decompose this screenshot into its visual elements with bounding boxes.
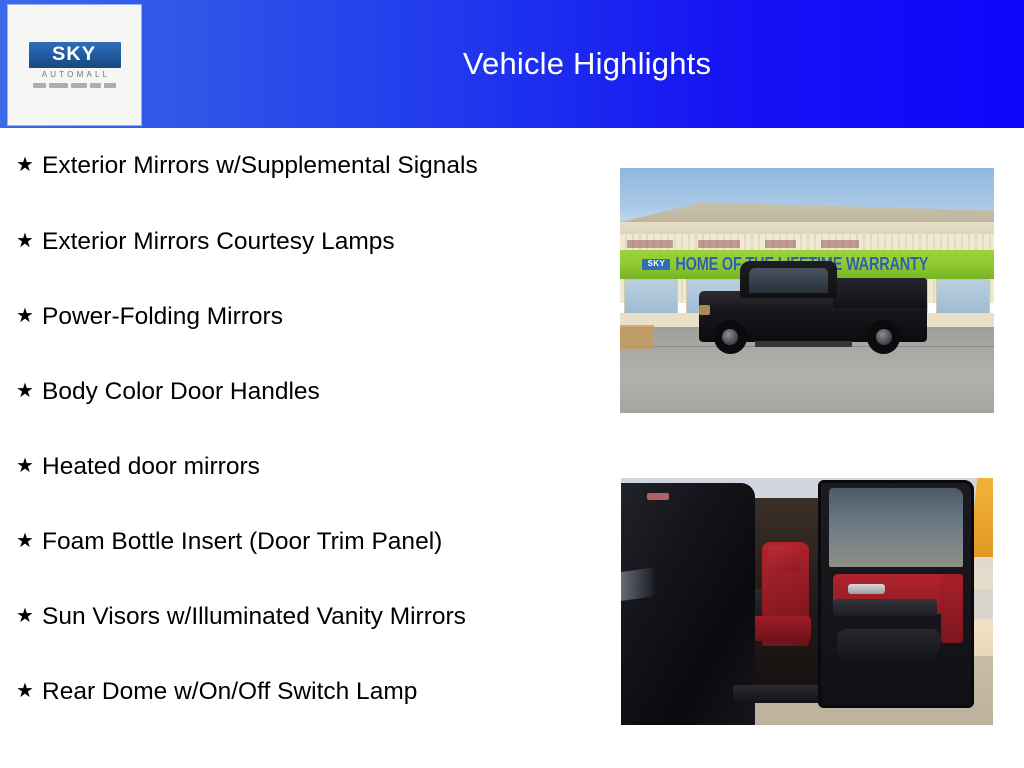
- list-item: ★ Sun Visors w/Illuminated Vanity Mirror…: [0, 599, 600, 634]
- body-marker-lamp: [647, 493, 669, 500]
- list-item-label: Rear Dome w/On/Off Switch Lamp: [42, 674, 512, 709]
- door-trim-accent: [941, 574, 963, 643]
- seat-cushion: [747, 616, 810, 641]
- door-window-glass: [829, 488, 963, 567]
- chrysler-mark-icon: [33, 83, 46, 88]
- truck-headlight: [699, 305, 711, 315]
- list-item-label: Body Color Door Handles: [42, 374, 512, 409]
- logo-tagline: AUTOMALL: [39, 71, 111, 79]
- seat-headrest: [768, 545, 801, 572]
- list-item-label: Foam Bottle Insert (Door Trim Panel): [42, 524, 512, 559]
- list-item: ★ Heated door mirrors: [0, 449, 600, 484]
- vehicle-interior-photo-art: [621, 478, 993, 725]
- dodge-sign-icon: [698, 240, 740, 247]
- logo-inner: SKY AUTOMALL: [27, 42, 123, 89]
- list-item-label: Heated door mirrors: [42, 449, 512, 484]
- star-bullet-icon: ★: [14, 224, 42, 259]
- truck-side-glass: [749, 268, 828, 293]
- door-armrest: [833, 599, 937, 616]
- logo-brand-name: SKY: [52, 45, 96, 64]
- star-bullet-icon: ★: [14, 299, 42, 334]
- list-item-label: Exterior Mirrors Courtesy Lamps: [42, 224, 512, 259]
- star-bullet-icon: ★: [14, 374, 42, 409]
- list-item: ★ Exterior Mirrors Courtesy Lamps: [0, 224, 600, 259]
- jeep-sign-icon: [765, 240, 797, 247]
- vehicle-exterior-photo[interactable]: SKY HOME OF THE LIFETIME WARRANTY: [620, 168, 994, 413]
- ram-sign-icon: [821, 240, 860, 247]
- door-pocket: [837, 629, 941, 664]
- banner-sky-badge: SKY: [642, 259, 670, 270]
- list-item-label: Sun Visors w/Illuminated Vanity Mirrors: [42, 599, 512, 634]
- list-item: ★ Power-Folding Mirrors: [0, 299, 600, 334]
- list-item: ★ Rear Dome w/On/Off Switch Lamp: [0, 674, 600, 709]
- list-item-label: Power-Folding Mirrors: [42, 299, 512, 334]
- ram-mark-icon: [90, 83, 101, 88]
- list-item: ★ Exterior Mirrors w/Supplemental Signal…: [0, 148, 600, 183]
- star-bullet-icon: ★: [14, 674, 42, 709]
- header-bar: Vehicle Highlights: [0, 0, 1024, 128]
- interior-door-handle: [848, 584, 885, 594]
- star-bullet-icon: ★: [14, 449, 42, 484]
- star-bullet-icon: ★: [14, 524, 42, 559]
- list-item: ★ Body Color Door Handles: [0, 374, 600, 409]
- star-bullet-icon: ★: [14, 148, 42, 183]
- truck-bed: [833, 278, 927, 307]
- jeep-mark-icon: [71, 83, 87, 88]
- page-title: Vehicle Highlights: [160, 0, 1014, 128]
- star-bullet-icon: ★: [14, 599, 42, 634]
- curb-patch: [620, 325, 654, 350]
- logo-plate: SKY: [29, 42, 121, 68]
- body-reflection: [621, 567, 655, 602]
- logo-brand-marks: [33, 82, 116, 89]
- dodge-mark-icon: [49, 83, 68, 88]
- window-pane: [936, 279, 990, 313]
- vehicle-interior-photo[interactable]: [621, 478, 993, 725]
- dealer-logo[interactable]: SKY AUTOMALL: [8, 5, 141, 125]
- sky-mark-icon: [104, 83, 116, 88]
- list-item: ★ Foam Bottle Insert (Door Trim Panel): [0, 524, 600, 559]
- slide-canvas: Vehicle Highlights SKY AUTOMALL ★ Exteri…: [0, 0, 1024, 768]
- truck-front-wheel: [714, 320, 748, 354]
- chrysler-sign-icon: [627, 240, 673, 247]
- list-item-label: Exterior Mirrors w/Supplemental Signals: [42, 148, 512, 183]
- truck-running-board: [755, 341, 852, 347]
- vehicle-highlights-list: ★ Exterior Mirrors w/Supplemental Signal…: [0, 148, 600, 749]
- brand-signs-row: [627, 238, 979, 250]
- vehicle-exterior-photo-art: SKY HOME OF THE LIFETIME WARRANTY: [620, 168, 994, 413]
- window-pane: [624, 279, 678, 313]
